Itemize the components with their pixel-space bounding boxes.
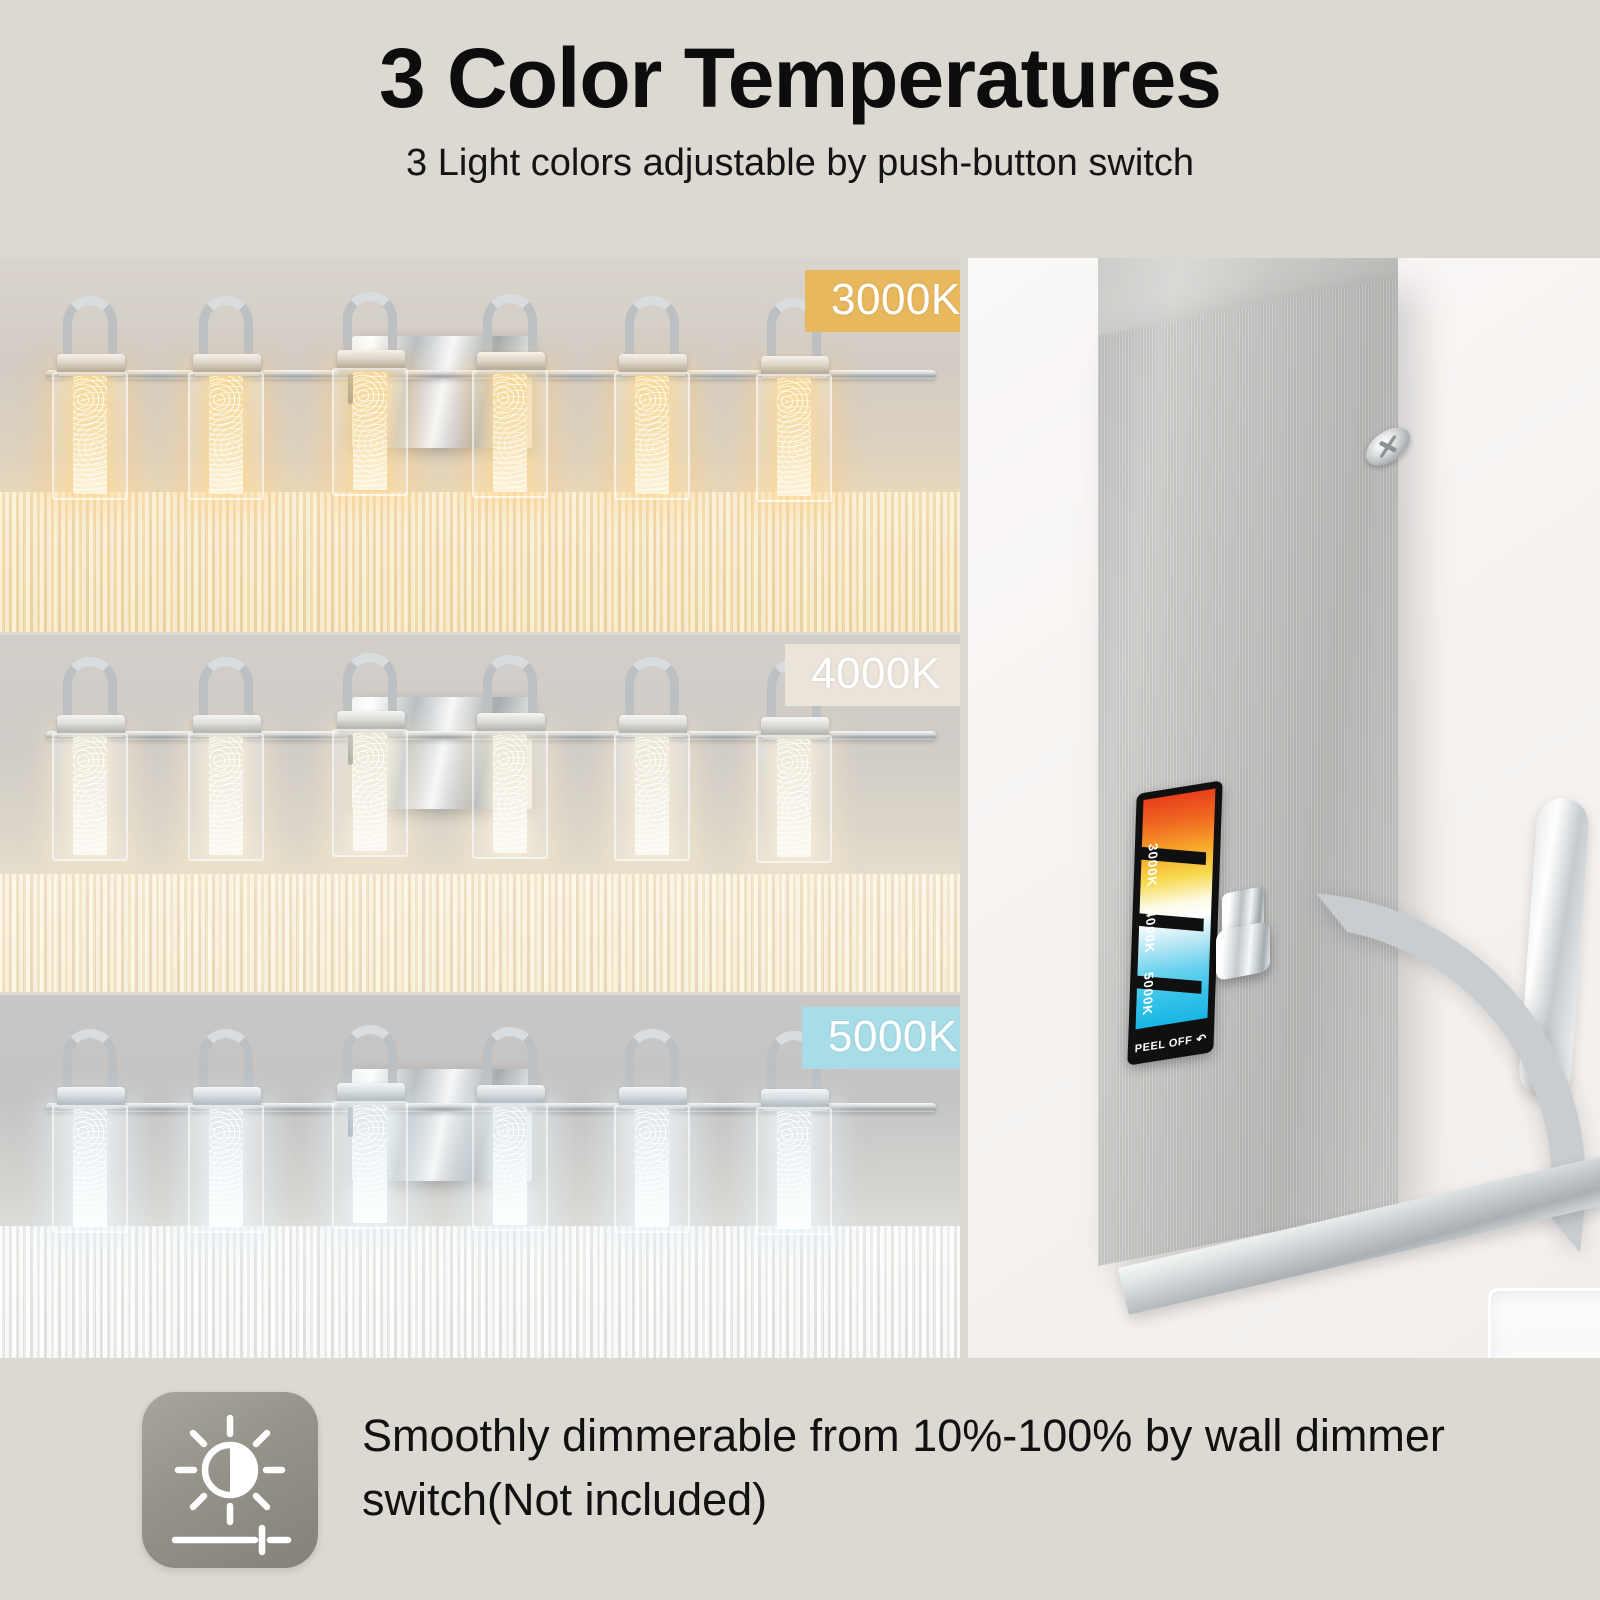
- gooseneck-arm: [625, 657, 679, 719]
- peel-off-label: PEEL OFF: [1135, 1034, 1193, 1055]
- bubble-glass-rod: [777, 1111, 811, 1229]
- bubble-glass-rod: [353, 733, 387, 851]
- glass-shade: [756, 374, 832, 502]
- header-banner: 3 Color Temperatures 3 Light colors adju…: [0, 0, 1600, 258]
- temperature-badge-label: 4000K: [811, 649, 941, 699]
- gooseneck-arm: [343, 292, 397, 354]
- bubble-glass-rod: [493, 735, 527, 853]
- glass-shade: [614, 733, 690, 861]
- gooseneck-arm: [625, 296, 679, 358]
- color-temperature-sticker: 3000K 4000K 5000K PEEL OFF ↶: [1127, 780, 1222, 1065]
- bubble-glass-rod: [353, 372, 387, 490]
- bubble-glass-rod: [209, 1109, 243, 1227]
- mounting-screw: [1366, 421, 1410, 472]
- bubble-glass-rod: [493, 1107, 527, 1225]
- temperature-badge-3000k: 3000K: [805, 270, 960, 332]
- glass-shade: [188, 733, 264, 861]
- glass-shade: [52, 733, 128, 861]
- glass-shade: [472, 1103, 548, 1231]
- glass-shade: [756, 735, 832, 863]
- bubble-glass-rod: [777, 739, 811, 857]
- bubble-glass-rod: [209, 376, 243, 494]
- push-button-switch[interactable]: [1216, 885, 1270, 981]
- bubble-glass-rod: [73, 737, 107, 855]
- glass-shade: [332, 729, 408, 857]
- gooseneck-arm: [483, 1027, 537, 1089]
- bubble-glass-rod: [73, 1109, 107, 1227]
- gooseneck-arm: [343, 1025, 397, 1087]
- gallery-section: 3000K: [0, 258, 1600, 1358]
- scene-photo-4000k: 4000K: [0, 635, 960, 992]
- temperature-badge-4000k: 4000K: [785, 644, 960, 706]
- gooseneck-arm: [63, 657, 117, 719]
- detail-glass-shade: [1488, 1288, 1600, 1358]
- gooseneck-arm: [199, 1029, 253, 1091]
- peel-arrow-icon: ↶: [1196, 1031, 1207, 1047]
- screw-slot: [1379, 435, 1397, 459]
- glass-shade: [472, 370, 548, 498]
- glass-shade: [614, 1105, 690, 1233]
- gooseneck-arm: [63, 1029, 117, 1091]
- dimmer-brightness-icon: [142, 1392, 318, 1568]
- dimmer-description-text: Smoothly dimmerable from 10%-100% by wal…: [362, 1404, 1582, 1532]
- glass-shade: [52, 372, 128, 500]
- gooseneck-arm: [63, 296, 117, 358]
- gooseneck-arm: [343, 653, 397, 715]
- glass-shade: [756, 1107, 832, 1235]
- gooseneck-arm: [483, 655, 537, 717]
- glass-shade: [614, 372, 690, 500]
- glass-shade: [188, 1105, 264, 1233]
- bubble-glass-rod: [777, 378, 811, 496]
- bubble-glass-rod: [635, 737, 669, 855]
- temperature-badge-5000k: 5000K: [802, 1007, 960, 1069]
- gooseneck-arm: [625, 1029, 679, 1091]
- glass-shade: [188, 372, 264, 500]
- bubble-glass-rod: [209, 737, 243, 855]
- scene-column: 3000K: [0, 258, 960, 1358]
- temperature-badge-label: 5000K: [828, 1012, 958, 1062]
- gooseneck-arm: [199, 657, 253, 719]
- glass-shade: [332, 368, 408, 496]
- page-title: 3 Color Temperatures: [379, 36, 1221, 120]
- bubble-glass-rod: [635, 376, 669, 494]
- bubble-glass-rod: [73, 376, 107, 494]
- sticker-label-3000k: 3000K: [1143, 842, 1160, 915]
- bubble-glass-rod: [635, 1109, 669, 1227]
- footer-section: Smoothly dimmerable from 10%-100% by wal…: [0, 1358, 1600, 1600]
- product-detail-photo: 3000K 4000K 5000K PEEL OFF ↶: [968, 258, 1600, 1358]
- bubble-glass-rod: [353, 1105, 387, 1223]
- scene-photo-5000k: 5000K: [0, 995, 960, 1358]
- gooseneck-arm: [199, 296, 253, 358]
- bubble-glass-rod: [493, 374, 527, 492]
- page-subtitle: 3 Light colors adjustable by push-button…: [406, 142, 1194, 185]
- glass-shade: [52, 1105, 128, 1233]
- glass-shade: [332, 1101, 408, 1229]
- glass-shade: [472, 731, 548, 859]
- switch-head: [1216, 921, 1270, 981]
- scene-photo-3000k: 3000K: [0, 258, 960, 632]
- gooseneck-arm: [483, 294, 537, 356]
- temperature-badge-label: 3000K: [831, 275, 960, 325]
